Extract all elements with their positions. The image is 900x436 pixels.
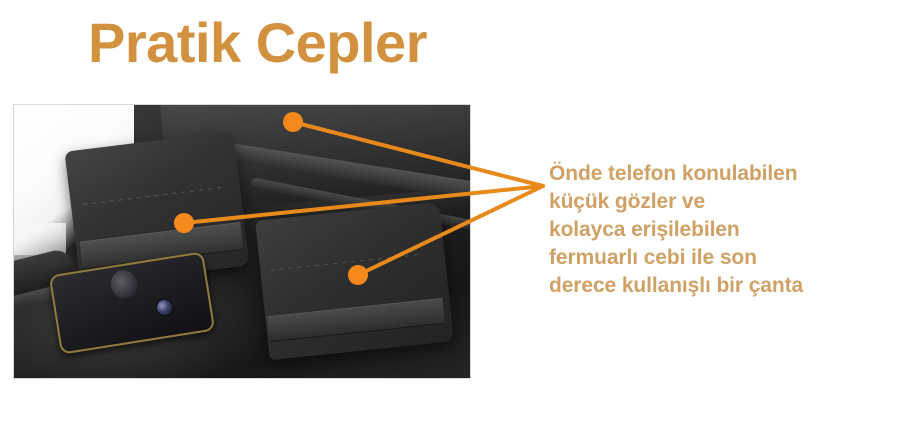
phone-logo [109, 268, 139, 300]
phone-in-pocket [49, 251, 216, 354]
pocket-left-stitching [83, 187, 222, 205]
pocket-right-stitching [270, 254, 419, 271]
product-photo [13, 104, 471, 379]
phone-camera-lens-icon [156, 299, 173, 316]
description-line: kolayca erişilebilen [549, 216, 889, 244]
description-line: fermuarlı cebi ile son [549, 244, 889, 272]
description-line: Önde telefon konulabilen [549, 160, 889, 188]
description-text: Önde telefon konulabilen küçük gözler ve… [549, 160, 889, 300]
description-line: küçük gözler ve [549, 188, 889, 216]
page-title: Pratik Cepler [88, 14, 427, 73]
bag-pocket-right [255, 202, 454, 361]
description-line: derece kullanışlı bir çanta [549, 272, 889, 300]
promo-banner: Pratik Cepler [0, 0, 900, 436]
pocket-right-elastic-band [267, 298, 445, 342]
photo-background [14, 105, 470, 378]
